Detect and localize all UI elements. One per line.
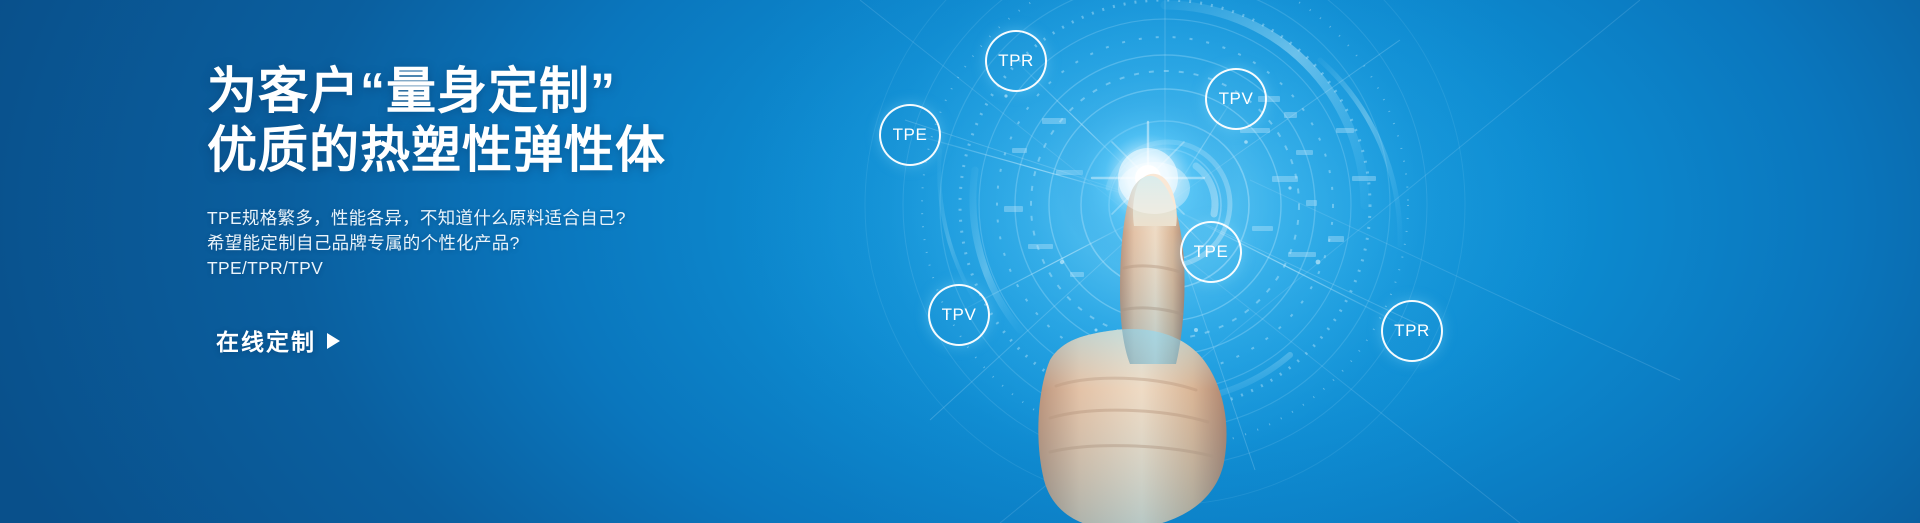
badge-label: TPR bbox=[1394, 321, 1430, 341]
subtext-line-3: TPE/TPR/TPV bbox=[207, 256, 847, 281]
badge-label: TPV bbox=[1219, 89, 1254, 109]
subtext-line-2: 希望能定制自己品牌专属的个性化产品? bbox=[207, 231, 847, 256]
badge-tpe-1[interactable]: TPE bbox=[879, 104, 941, 166]
headline-line-2: 优质的热塑性弹性体 bbox=[207, 121, 847, 180]
badge-label: TPE bbox=[893, 125, 928, 145]
badge-tpv-2[interactable]: TPV bbox=[928, 284, 990, 346]
badge-tpv-1[interactable]: TPV bbox=[1205, 68, 1267, 130]
badge-tpr-1[interactable]: TPR bbox=[985, 30, 1047, 92]
badge-tpr-2[interactable]: TPR bbox=[1381, 300, 1443, 362]
badge-label: TPV bbox=[942, 305, 977, 325]
banner-content: 为客户“量身定制” 优质的热塑性弹性体 TPE规格繁多，性能各异，不知道什么原料… bbox=[207, 62, 847, 357]
pointing-hand bbox=[1020, 150, 1250, 523]
hero-banner: TPR TPV TPE TPE TPV TPR 为客户“量身定制” 优质的热塑性… bbox=[0, 0, 1920, 523]
badge-tpe-2[interactable]: TPE bbox=[1180, 221, 1242, 283]
subtext-line-1: TPE规格繁多，性能各异，不知道什么原料适合自己? bbox=[207, 206, 847, 231]
banner-headline: 为客户“量身定制” 优质的热塑性弹性体 bbox=[207, 62, 847, 180]
headline-line-1: 为客户“量身定制” bbox=[207, 62, 847, 121]
cta-label: 在线定制 bbox=[216, 323, 316, 357]
badge-label: TPE bbox=[1194, 242, 1229, 262]
online-customization-button[interactable]: 在线定制 bbox=[216, 323, 340, 357]
play-triangle-icon bbox=[327, 333, 340, 349]
badge-label: TPR bbox=[998, 51, 1034, 71]
banner-subtext: TPE规格繁多，性能各异，不知道什么原料适合自己? 希望能定制自己品牌专属的个性… bbox=[207, 206, 847, 281]
